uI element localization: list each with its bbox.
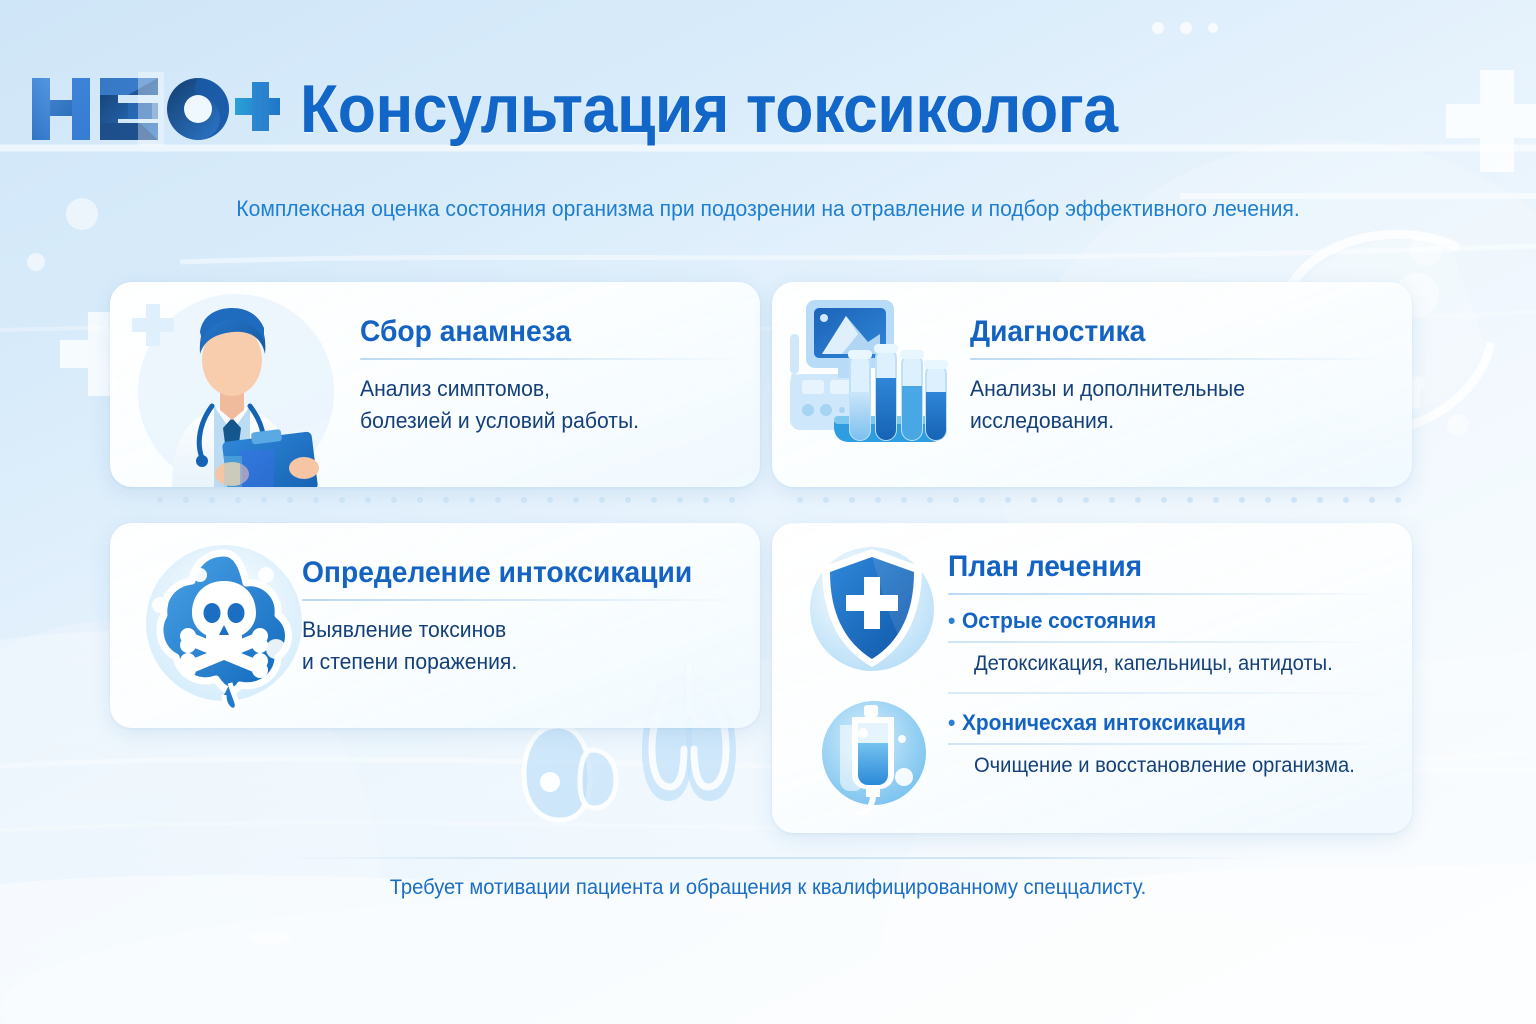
kidney-decor — [524, 726, 616, 820]
card-text: Выявление токсинов и степени поражения. — [302, 614, 724, 679]
plan-section-divider — [948, 692, 1388, 694]
header: Консультация токсиколога Комплексная оце… — [0, 0, 1536, 250]
doctor-illustration — [128, 282, 343, 487]
bullet-icon: • — [948, 608, 955, 633]
card-text: Анализы и дополнительные исследования. — [970, 373, 1373, 438]
plan-item-text: Очищение и восстановление организма. — [974, 754, 1371, 778]
card-title: Сбор анамнеза — [360, 316, 717, 348]
plan-item-title: •Острые состояния — [948, 608, 1366, 634]
lab-equipment-illustration — [784, 292, 974, 482]
card-anamnesis[interactable]: Сбор анамнеза Анализ симптомов, болезией… — [110, 282, 760, 487]
footer-note: Требует мотивации пациента и обращения к… — [31, 876, 1506, 900]
iv-drip-icon — [814, 695, 934, 815]
plan-item-divider — [948, 641, 1388, 643]
card-text-line: и степени поражения. — [302, 646, 724, 679]
card-divider — [302, 599, 742, 601]
card-text: Анализ симптомов, болезией и условий раб… — [360, 373, 725, 438]
card-text-line: исследования. — [970, 405, 1373, 438]
plan-item-title: •Хроничесхая интоксикация — [948, 710, 1366, 736]
plan-item-label: Острые состояния — [962, 608, 1156, 633]
shield-cross-icon — [802, 539, 942, 679]
plan-item-chronic[interactable]: •Хроничесхая интоксикация Очищение и вос… — [948, 710, 1388, 778]
brand-logo[interactable] — [30, 72, 280, 146]
card-title: План лечения — [948, 551, 1362, 583]
plan-item-acute[interactable]: •Острые состояния Детоксикация, капельни… — [948, 608, 1388, 676]
card-diagnostic[interactable]: Диагностика Анализы и дополнительные исс… — [772, 282, 1412, 487]
card-treatment-plan[interactable]: План лечения •Острые состояния Детоксика… — [772, 523, 1412, 833]
card-title: Определение интоксикации — [302, 557, 716, 589]
card-divider — [360, 358, 740, 360]
plan-item-divider — [948, 743, 1388, 745]
card-intoxication[interactable]: Определение интоксикации Выявление токси… — [110, 523, 760, 728]
plan-item-text: Детоксикация, капельницы, антидоты. — [974, 652, 1371, 676]
page-subtitle: Комплексная оценка состояния организма п… — [31, 196, 1506, 222]
card-text-line: Выявление токсинов — [302, 614, 724, 647]
card-divider — [970, 358, 1390, 360]
bullet-icon: • — [948, 710, 955, 735]
card-title: Диагностика — [970, 316, 1365, 348]
plan-item-label: Хроничесхая интоксикация — [962, 710, 1246, 735]
page-title: Консультация токсиколога — [300, 70, 1118, 148]
card-text-line: болезией и условий работы. — [360, 405, 725, 438]
card-divider — [948, 593, 1388, 595]
skull-toxic-icon — [136, 539, 312, 715]
card-text-line: Анализы и дополнительные — [970, 373, 1373, 406]
card-text-line: Анализ симптомов, — [360, 373, 725, 406]
footer-divider — [290, 857, 1250, 859]
